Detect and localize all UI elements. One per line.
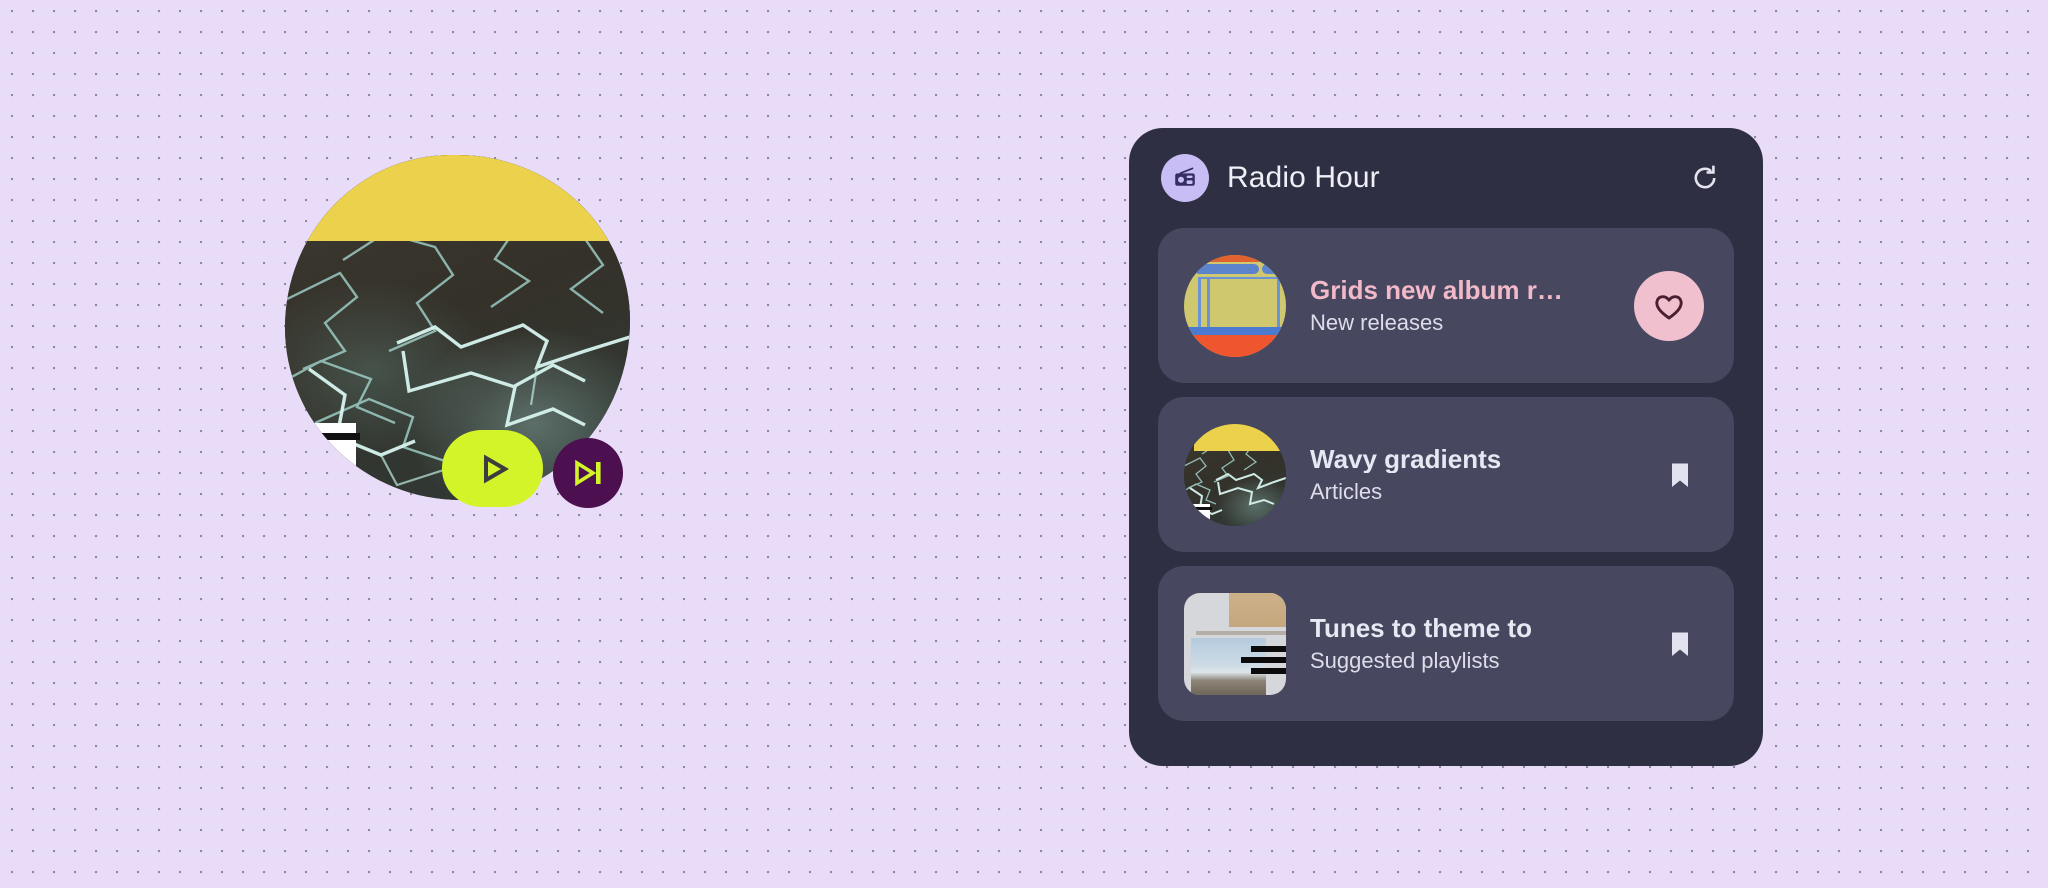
bookmark-icon xyxy=(1665,460,1695,490)
list-item-title: Grids new album r… xyxy=(1310,276,1620,305)
list-item-text: Tunes to theme to Suggested playlists xyxy=(1310,614,1642,674)
radio-icon xyxy=(1161,154,1209,202)
play-icon xyxy=(471,447,515,491)
refresh-icon xyxy=(1689,162,1721,194)
list-item-title: Wavy gradients xyxy=(1310,445,1642,474)
refresh-button[interactable] xyxy=(1685,158,1725,198)
page-background: Radio Hour xyxy=(0,0,2048,888)
album-art-frame-accent xyxy=(294,423,356,493)
bookmark-button[interactable] xyxy=(1656,620,1704,668)
next-button[interactable] xyxy=(553,438,623,508)
play-button[interactable] xyxy=(442,430,543,507)
list-item-text: Wavy gradients Articles xyxy=(1310,445,1642,505)
card-item-list: Grids new album r… New releases xyxy=(1158,228,1734,721)
card-title: Radio Hour xyxy=(1227,161,1380,195)
list-item[interactable]: Tunes to theme to Suggested playlists xyxy=(1158,566,1734,721)
radio-hour-card: Radio Hour xyxy=(1129,128,1763,766)
list-item-subtitle: Articles xyxy=(1310,480,1642,504)
bookmark-button[interactable] xyxy=(1656,451,1704,499)
card-header: Radio Hour xyxy=(1129,128,1763,228)
heart-icon xyxy=(1652,289,1686,323)
skip-next-icon xyxy=(569,454,607,492)
grids-album-thumbnail xyxy=(1184,255,1286,357)
list-item-title: Tunes to theme to xyxy=(1310,614,1642,643)
list-item[interactable]: Wavy gradients Articles xyxy=(1158,397,1734,552)
tunes-theme-thumbnail xyxy=(1184,593,1286,695)
album-art-top-band xyxy=(285,155,630,241)
bookmark-icon xyxy=(1665,629,1695,659)
list-item-text: Grids new album r… New releases xyxy=(1310,276,1620,336)
player-artwork-area xyxy=(285,155,630,500)
list-item-subtitle: New releases xyxy=(1310,311,1620,335)
wavy-gradients-thumbnail xyxy=(1184,424,1286,526)
favorite-button[interactable] xyxy=(1634,271,1704,341)
list-item[interactable]: Grids new album r… New releases xyxy=(1158,228,1734,383)
list-item-subtitle: Suggested playlists xyxy=(1310,649,1642,673)
